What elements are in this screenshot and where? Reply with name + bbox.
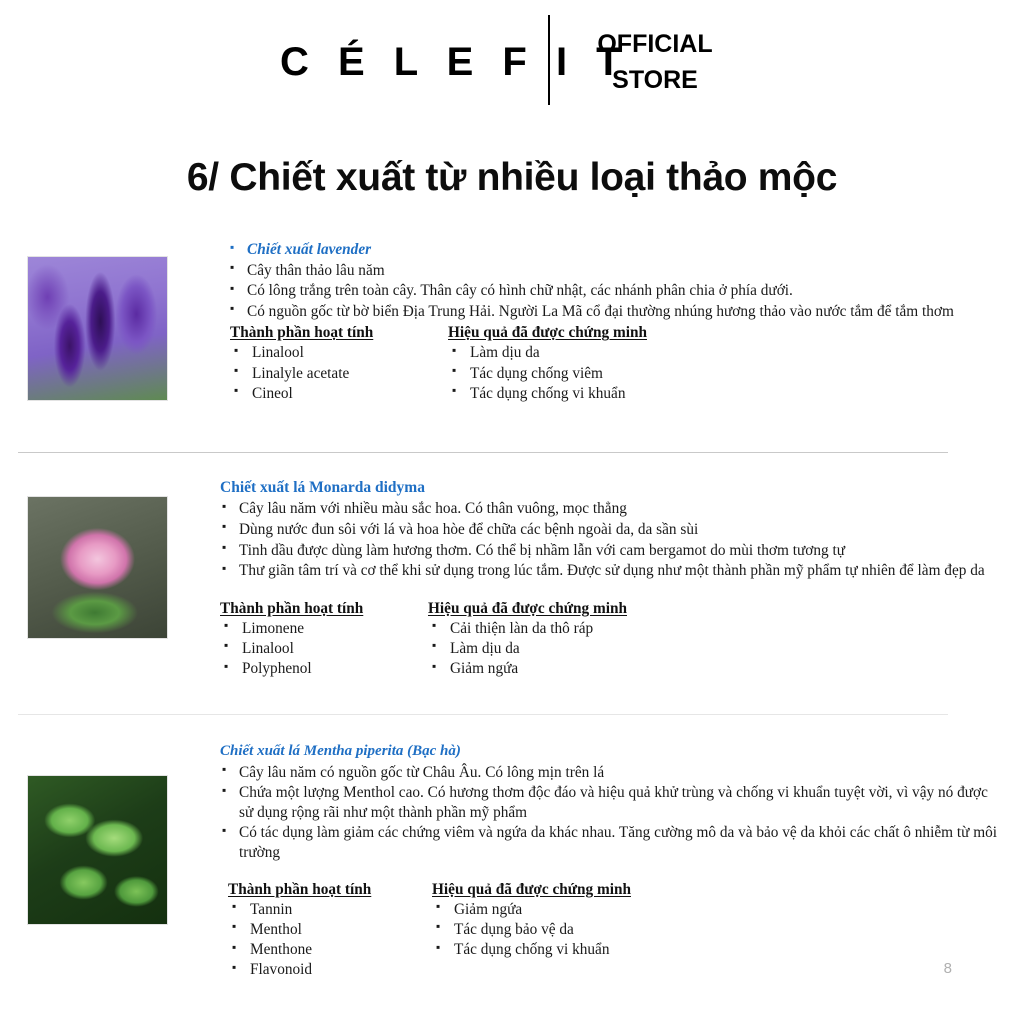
mentha-bullet-list: Cây lâu năm có nguồn gốc từ Châu Âu. Có … <box>220 763 1000 863</box>
list-item: Làm dịu da <box>448 343 778 363</box>
section-divider-2 <box>18 714 948 715</box>
list-item: Có tác dụng làm giảm các chứng viêm và n… <box>220 823 1000 862</box>
lavender-bullet-list: Chiết xuất lavender Cây thân thảo lâu nă… <box>228 240 996 321</box>
monarda-bullet-list: Cây lâu năm với nhiều màu sắc hoa. Có th… <box>220 499 996 580</box>
lavender-text-block: Chiết xuất lavender Cây thân thảo lâu nă… <box>228 240 996 406</box>
list-item: Tác dụng chống viêm <box>448 364 778 384</box>
column-header: Hiệu quả đã được chứng minh <box>448 324 778 342</box>
list-item: Limonene <box>220 619 425 639</box>
column-list: Linalool Linalyle acetate Cineol <box>230 343 445 404</box>
column-list: Cải thiện làn da thô ráp Làm dịu da Giảm… <box>428 619 768 680</box>
mentha-text-block: Chiết xuất lá Mentha piperita (Bạc hà) C… <box>220 742 1000 981</box>
lavender-subcolumns: Thành phần hoạt tính Linalool Linalyle a… <box>228 324 996 406</box>
list-item: Tinh dầu được dùng làm hương thơm. Có th… <box>220 541 996 561</box>
mentha-heading: Chiết xuất lá Mentha piperita (Bạc hà) <box>220 742 1000 761</box>
list-item: Tannin <box>228 900 433 920</box>
brand-subtitle-line1: OFFICIAL <box>570 26 740 62</box>
list-item: Menthone <box>228 940 433 960</box>
slide-page: C É L E F I T OFFICIAL STORE 6/ Chiết xu… <box>0 0 1024 1024</box>
list-item: Menthol <box>228 920 433 940</box>
brand-name: C É L E F I T <box>280 42 530 82</box>
lavender-active-ingredients: Thành phần hoạt tính Linalool Linalyle a… <box>230 324 445 404</box>
list-item: Tác dụng chống vi khuẩn <box>448 384 778 404</box>
monarda-didyma-photo <box>27 496 168 639</box>
mentha-piperita-photo <box>27 775 168 925</box>
brand-subtitle: OFFICIAL STORE <box>570 26 740 99</box>
monarda-proven-effects: Hiệu quả đã được chứng minh Cải thiện là… <box>428 600 768 680</box>
list-item: Tác dụng chống vi khuẩn <box>432 940 772 960</box>
list-item: Giảm ngứa <box>428 659 768 679</box>
column-header: Hiệu quả đã được chứng minh <box>428 600 768 618</box>
list-item: Cây lâu năm với nhiều màu sắc hoa. Có th… <box>220 499 996 519</box>
column-header: Thành phần hoạt tính <box>228 881 433 899</box>
mentha-subcolumns: Thành phần hoạt tính Tannin Menthol Ment… <box>220 881 1000 981</box>
list-item: Dùng nước đun sôi với lá và hoa hòe để c… <box>220 520 996 540</box>
page-title: 6/ Chiết xuất từ nhiều loại thảo mộc <box>0 156 1024 200</box>
list-item: Có nguồn gốc từ bờ biển Địa Trung Hải. N… <box>228 302 996 322</box>
column-list: Limonene Linalool Polyphenol <box>220 619 425 680</box>
list-item: Làm dịu da <box>428 639 768 659</box>
mentha-proven-effects: Hiệu quả đã được chứng minh Giảm ngứa Tá… <box>432 881 772 961</box>
monarda-text-block: Chiết xuất lá Monarda didyma Cây lâu năm… <box>220 478 996 682</box>
list-item: Chứa một lượng Menthol cao. Có hương thơ… <box>220 783 1000 822</box>
list-item: Tác dụng bảo vệ da <box>432 920 772 940</box>
lavender-proven-effects: Hiệu quả đã được chứng minh Làm dịu da T… <box>448 324 778 404</box>
list-item: Linalool <box>230 343 445 363</box>
monarda-active-ingredients: Thành phần hoạt tính Limonene Linalool P… <box>220 600 425 680</box>
list-item: Cây lâu năm có nguồn gốc từ Châu Âu. Có … <box>220 763 1000 783</box>
mentha-active-ingredients: Thành phần hoạt tính Tannin Menthol Ment… <box>228 881 433 981</box>
list-item: Giảm ngứa <box>432 900 772 920</box>
list-item: Cải thiện làn da thô ráp <box>428 619 768 639</box>
list-item: Thư giãn tâm trí và cơ thể khi sử dụng t… <box>220 561 996 581</box>
list-item: Flavonoid <box>228 960 433 980</box>
list-item: Polyphenol <box>220 659 425 679</box>
list-item: Linalyle acetate <box>230 364 445 384</box>
column-header: Thành phần hoạt tính <box>230 324 445 342</box>
list-item: Có lông trắng trên toàn cây. Thân cây có… <box>228 281 996 301</box>
monarda-heading: Chiết xuất lá Monarda didyma <box>220 478 996 497</box>
list-item: Cây thân thảo lâu năm <box>228 261 996 281</box>
lavender-heading: Chiết xuất lavender <box>228 240 996 260</box>
column-header: Thành phần hoạt tính <box>220 600 425 618</box>
brand-vertical-divider <box>548 15 550 105</box>
lavender-photo <box>27 256 168 401</box>
brand-header: C É L E F I T OFFICIAL STORE <box>0 6 1024 106</box>
list-item: Linalool <box>220 639 425 659</box>
brand-subtitle-line2: STORE <box>570 62 740 98</box>
monarda-subcolumns: Thành phần hoạt tính Limonene Linalool P… <box>220 600 996 682</box>
column-list: Giảm ngứa Tác dụng bảo vệ da Tác dụng ch… <box>432 900 772 961</box>
page-number: 8 <box>944 960 952 977</box>
section-divider-1 <box>18 452 948 453</box>
column-list: Làm dịu da Tác dụng chống viêm Tác dụng … <box>448 343 778 404</box>
column-header: Hiệu quả đã được chứng minh <box>432 881 772 899</box>
column-list: Tannin Menthol Menthone Flavonoid <box>228 900 433 981</box>
list-item: Cineol <box>230 384 445 404</box>
